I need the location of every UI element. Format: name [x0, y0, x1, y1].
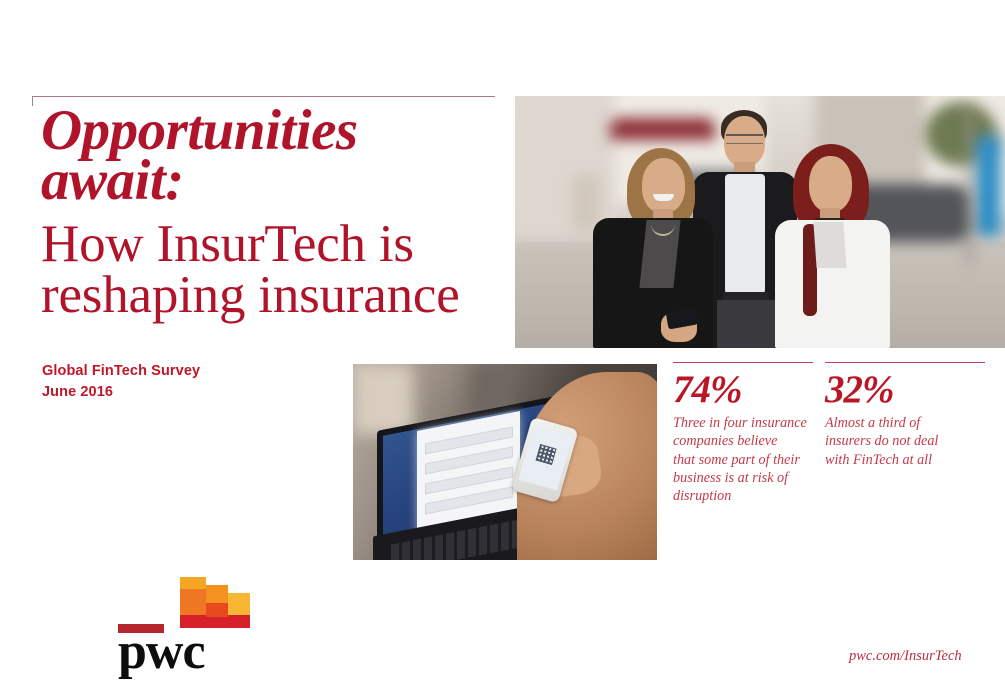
laptop-smartphone-photo: [353, 364, 657, 560]
statistic-value: 32%: [825, 370, 894, 409]
caption-line: business is at risk of: [673, 469, 807, 487]
subtitle: Global FinTech Survey June 2016: [42, 361, 200, 403]
logo-block-red-accent: [206, 603, 228, 617]
lamp-post: [967, 106, 972, 266]
background-pedestrian: [573, 174, 599, 232]
document-cover-page: Opportunities await: How InsurTech is re…: [0, 0, 1005, 682]
caption-line: with FinTech at all: [825, 451, 938, 469]
pwc-wordmark: pwc: [118, 626, 205, 678]
street-sign: [975, 136, 1001, 236]
caption-line: that some part of their: [673, 451, 807, 469]
woman-right-head: [809, 156, 852, 212]
caption-line: insurers do not deal: [825, 432, 938, 450]
statistic-caption: Three in four insurance companies believ…: [673, 414, 807, 506]
statistic-value: 74%: [673, 370, 742, 409]
statistic-rule: [825, 362, 985, 363]
pwc-logo: pwc: [118, 572, 268, 672]
header-rule: [32, 96, 495, 97]
statistic-caption: Almost a third of insurers do not deal w…: [825, 414, 938, 469]
woman-right-collar: [813, 222, 846, 268]
title-line-3: How InsurTech is: [41, 218, 511, 270]
page-title: Opportunities await: How InsurTech is re…: [41, 103, 511, 322]
header-rule-tick: [32, 96, 33, 106]
qr-code-icon: [536, 444, 557, 465]
footer-url[interactable]: pwc.com/InsurTech: [849, 648, 962, 665]
title-line-4: reshaping insurance: [41, 269, 511, 321]
awning: [610, 118, 715, 140]
logo-block-orange-light: [180, 577, 206, 589]
subtitle-date: June 2016: [42, 382, 200, 403]
caption-line: Three in four insurance: [673, 414, 807, 432]
background-light-patch: [353, 364, 413, 434]
woman-left-head: [642, 158, 685, 213]
statistic-rule: [673, 362, 813, 363]
man-trousers: [717, 300, 777, 348]
caption-line: Almost a third of: [825, 414, 938, 432]
caption-line: companies believe: [673, 432, 807, 450]
background-building-left: [515, 96, 625, 238]
team-street-photo: [515, 96, 1005, 348]
pwc-logo-mark: [118, 572, 268, 628]
caption-line: disruption: [673, 487, 807, 505]
subtitle-survey-name: Global FinTech Survey: [42, 361, 200, 382]
man-glasses: [726, 134, 763, 144]
man-shirt: [725, 174, 765, 294]
